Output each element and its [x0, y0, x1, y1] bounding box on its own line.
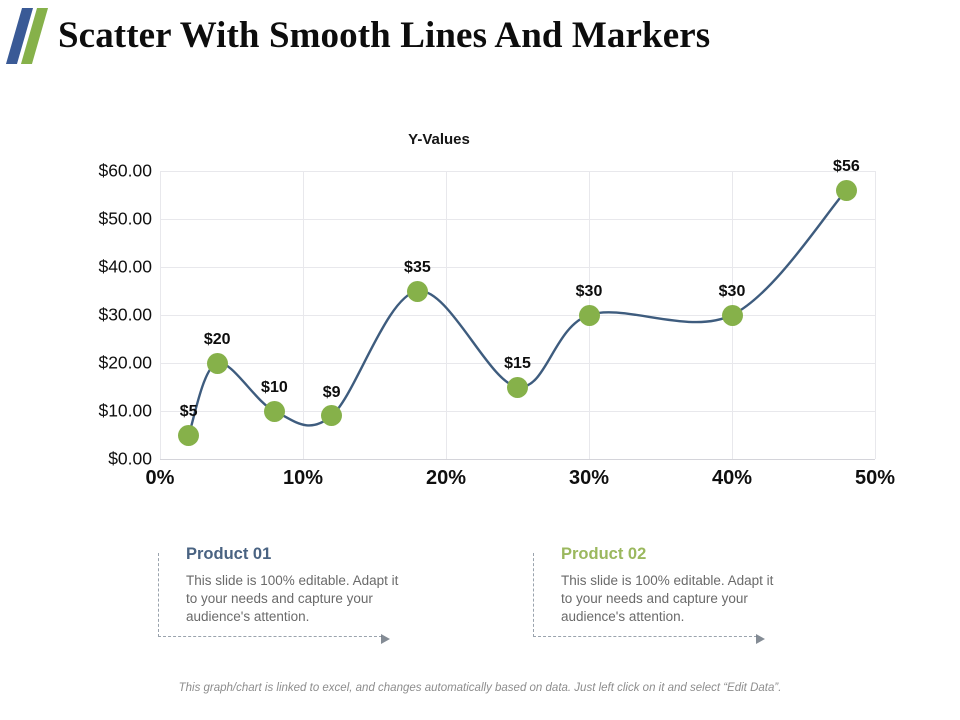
product-block[interactable]: Product 02 This slide is 100% editable. …	[533, 545, 783, 645]
x-tick-label: 20%	[426, 467, 466, 490]
y-tick-label: $60.00	[42, 161, 152, 182]
arrow-right-icon	[381, 634, 390, 644]
data-marker[interactable]	[264, 401, 285, 422]
y-tick-label: $40.00	[42, 257, 152, 278]
series-path	[189, 190, 847, 435]
data-point-label: $5	[180, 403, 198, 421]
product-body-text: This slide is 100% editable. Adapt it to…	[561, 572, 787, 626]
chart-title: Y-Values	[0, 131, 960, 148]
x-tick-label: 0%	[146, 467, 175, 490]
data-point-label: $56	[833, 158, 860, 176]
x-tick-label: 50%	[855, 467, 895, 490]
page-title: Scatter With Smooth Lines And Markers	[58, 14, 710, 57]
x-axis-tick-labels: 0%10%20%30%40%50%	[160, 467, 875, 497]
data-marker[interactable]	[407, 281, 428, 302]
arrow-right-icon	[756, 634, 765, 644]
y-tick-label: $0.00	[42, 449, 152, 470]
data-marker[interactable]	[507, 377, 528, 398]
data-marker[interactable]	[207, 353, 228, 374]
x-axis-line	[160, 459, 875, 460]
footer-note: This graph/chart is linked to excel, and…	[0, 682, 960, 694]
gridline-vertical	[875, 171, 876, 459]
data-point-label: $9	[323, 384, 341, 402]
data-point-label: $30	[576, 283, 603, 301]
data-marker[interactable]	[836, 180, 857, 201]
y-tick-label: $50.00	[42, 209, 152, 230]
plot-area: $5$20$10$9$35$15$30$30$56	[160, 171, 875, 459]
product-heading: Product 01	[186, 545, 271, 564]
x-tick-label: 10%	[283, 467, 323, 490]
product-heading: Product 02	[561, 545, 646, 564]
data-marker[interactable]	[579, 305, 600, 326]
x-tick-label: 30%	[569, 467, 609, 490]
y-tick-label: $30.00	[42, 305, 152, 326]
data-point-label: $30	[719, 283, 746, 301]
y-axis-tick-labels: $0.00$10.00$20.00$30.00$40.00$50.00$60.0…	[40, 171, 152, 459]
product-block[interactable]: Product 01 This slide is 100% editable. …	[158, 545, 408, 645]
y-tick-label: $10.00	[42, 401, 152, 422]
slide-header: Scatter With Smooth Lines And Markers	[0, 0, 960, 80]
data-point-label: $10	[261, 379, 288, 397]
logo-icon	[8, 8, 54, 64]
data-point-label: $20	[204, 331, 231, 349]
chart[interactable]: Y-Values $0.00$10.00$20.00$30.00$40.00$5…	[0, 120, 960, 510]
data-point-label: $35	[404, 259, 431, 277]
data-point-label: $15	[504, 355, 531, 373]
product-body-text: This slide is 100% editable. Adapt it to…	[186, 572, 412, 626]
x-tick-label: 40%	[712, 467, 752, 490]
y-tick-label: $20.00	[42, 353, 152, 374]
data-marker[interactable]	[178, 425, 199, 446]
data-marker[interactable]	[722, 305, 743, 326]
